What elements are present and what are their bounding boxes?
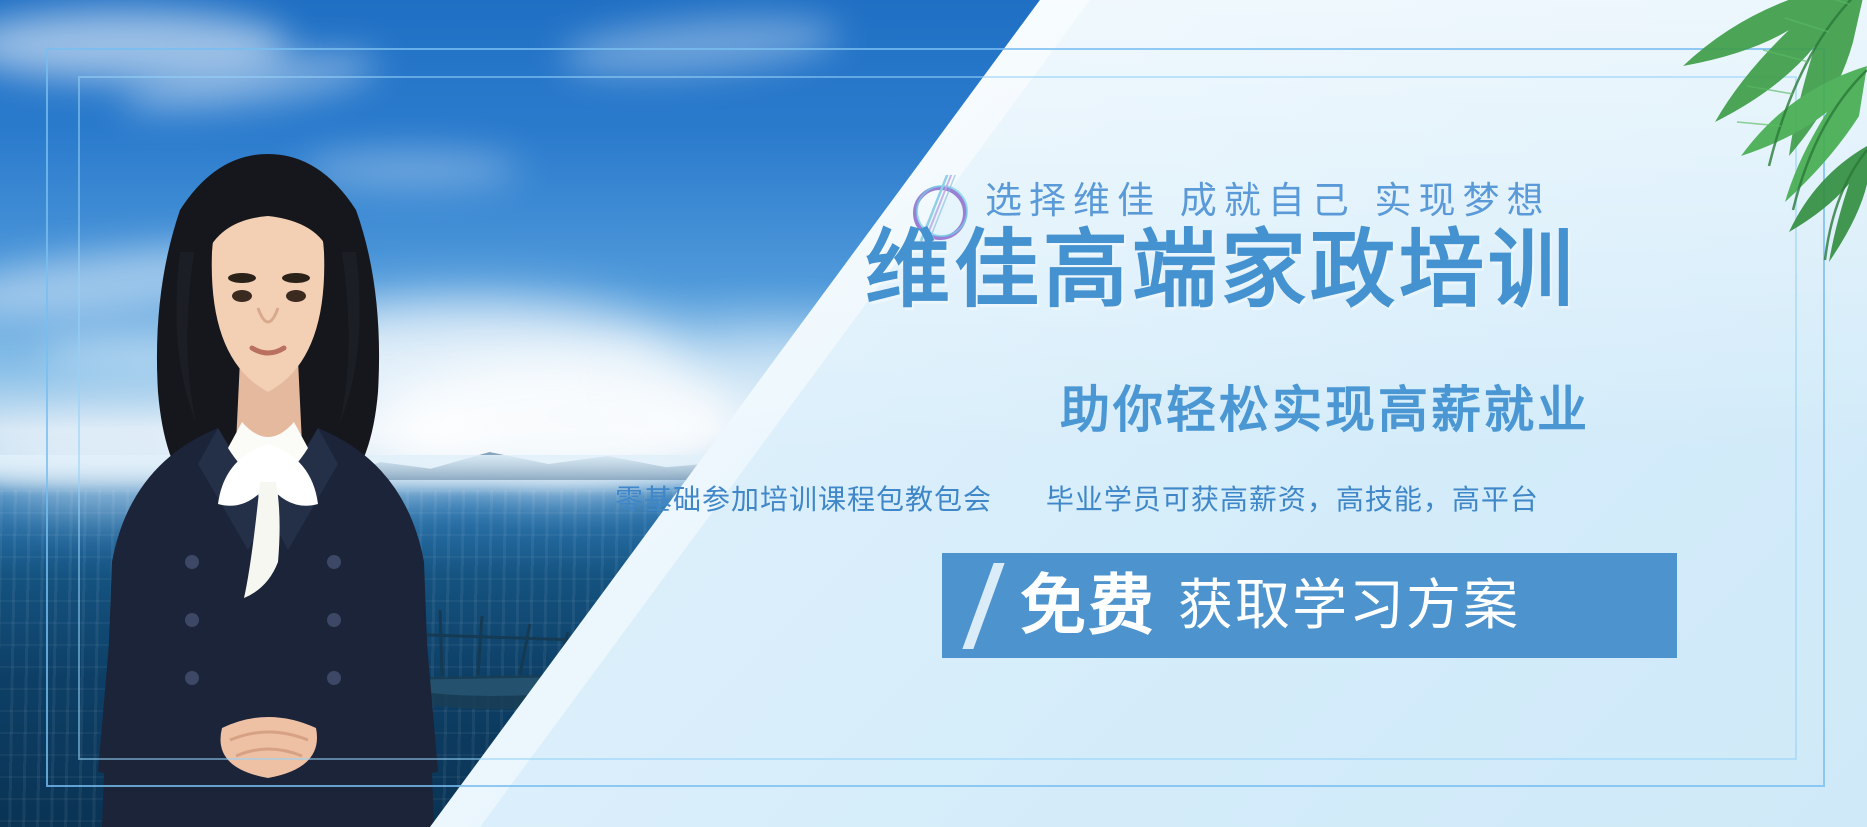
description: 零基础参加培训课程包教包会 毕业学员可获高薪资，高技能，高平台	[615, 478, 1539, 518]
tagline: 选择维佳 成就自己 实现梦想	[985, 170, 1551, 224]
subheadline: 助你轻松实现高薪就业	[1060, 370, 1590, 442]
description-part-1: 零基础参加培训课程包教包会	[615, 483, 992, 516]
text-content: 选择维佳 成就自己 实现梦想 维佳高端家政培训 助你轻松实现高薪就业 零基础参加…	[0, 0, 1867, 827]
slash-icon	[964, 563, 1010, 649]
cta-label: 获取学习方案	[1178, 578, 1520, 633]
promo-banner: 选择维佳 成就自己 实现梦想 维佳高端家政培训 助你轻松实现高薪就业 零基础参加…	[0, 0, 1867, 827]
page-title: 维佳高端家政培训	[865, 228, 1577, 313]
get-study-plan-button[interactable]: 免费 获取学习方案	[942, 553, 1677, 658]
description-part-2: 毕业学员可获高薪资，高技能，高平台	[1046, 483, 1539, 516]
cta-emphasis-label: 免费	[1020, 573, 1156, 639]
